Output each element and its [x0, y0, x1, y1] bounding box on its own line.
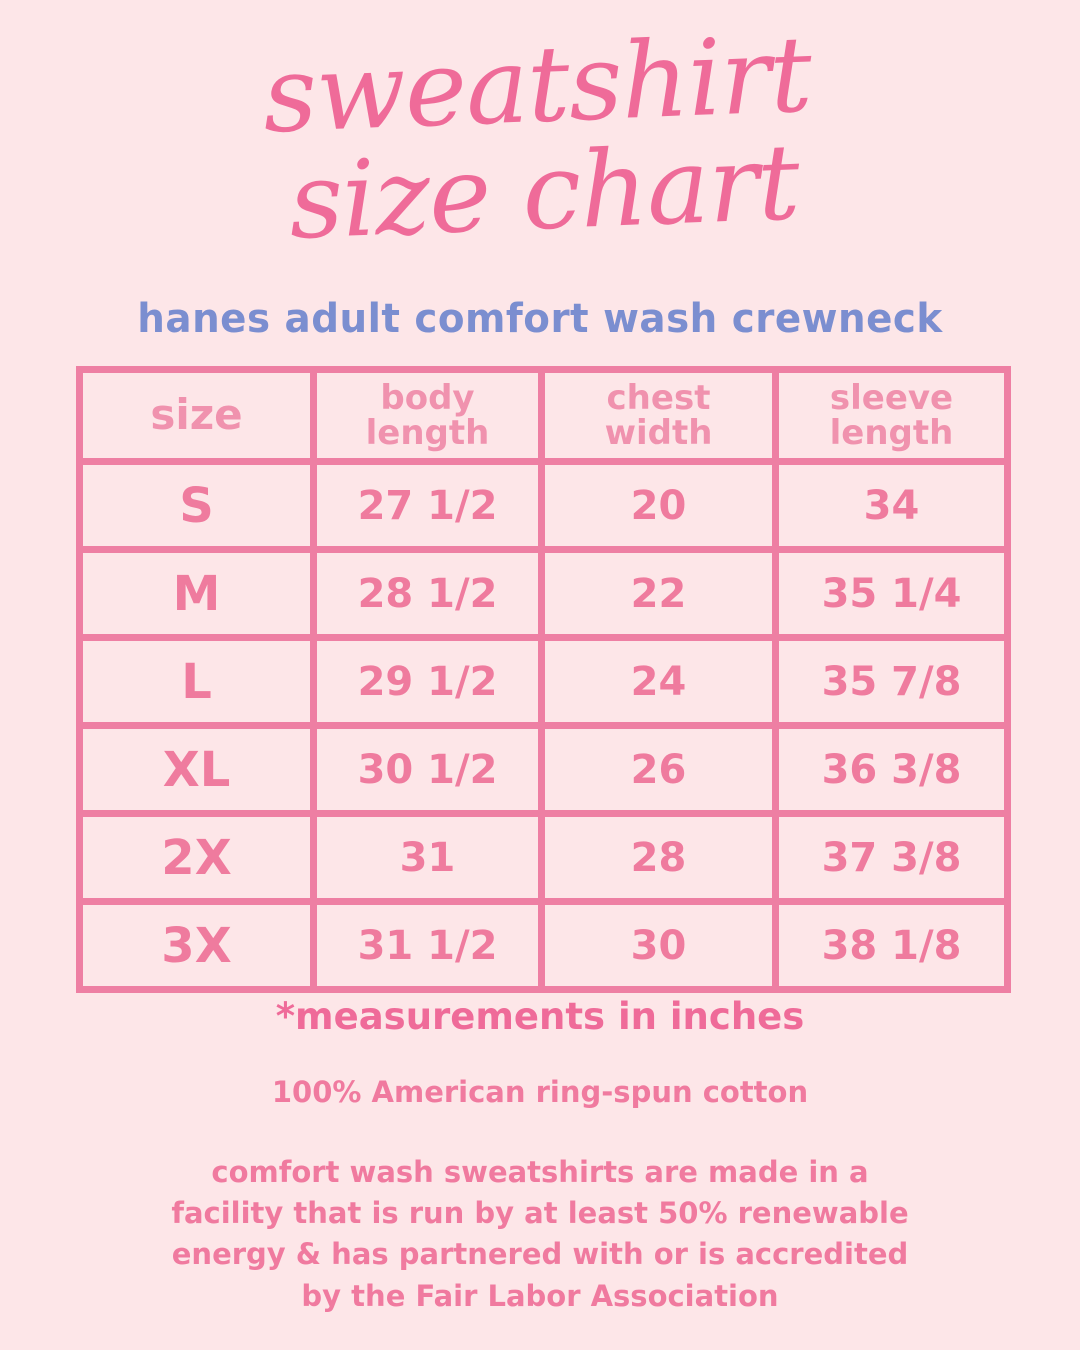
cell-chest-width: 26: [542, 726, 776, 814]
size-chart-table: size body length chest width sleeve leng…: [76, 366, 1011, 993]
cell-body-length: 29 1/2: [314, 638, 542, 726]
ethics-note: comfort wash sweatshirts are made in a f…: [0, 1152, 1080, 1317]
column-header-sleeve-length-line1: sleeve: [779, 381, 1004, 416]
column-header-sleeve-length-line2: length: [779, 416, 1004, 451]
page-title: sweatshirt size chart: [0, 34, 1080, 244]
cell-sleeve-length: 34: [776, 462, 1008, 550]
cell-body-length: 30 1/2: [314, 726, 542, 814]
column-header-body-length-line1: body: [317, 381, 538, 416]
ethics-note-line-2: facility that is run by at least 50% ren…: [0, 1193, 1080, 1234]
cell-chest-width: 24: [542, 638, 776, 726]
cell-sleeve-length: 38 1/8: [776, 902, 1008, 990]
table-row: 3X 31 1/2 30 38 1/8: [80, 902, 1008, 990]
column-header-chest-width: chest width: [542, 370, 776, 462]
cell-chest-width: 28: [542, 814, 776, 902]
column-header-body-length-line2: length: [317, 416, 538, 451]
measurement-unit-note: *measurements in inches: [0, 995, 1080, 1038]
product-subtitle: hanes adult comfort wash crewneck: [16, 296, 1064, 342]
ethics-note-line-1: comfort wash sweatshirts are made in a: [0, 1152, 1080, 1193]
cell-body-length: 27 1/2: [314, 462, 542, 550]
column-header-sleeve-length: sleeve length: [776, 370, 1008, 462]
cell-sleeve-length: 37 3/8: [776, 814, 1008, 902]
cell-size: M: [80, 550, 314, 638]
cell-body-length: 31 1/2: [314, 902, 542, 990]
ethics-note-line-4: by the Fair Labor Association: [0, 1276, 1080, 1317]
cell-body-length: 31: [314, 814, 542, 902]
cell-size: S: [80, 462, 314, 550]
table-row: M 28 1/2 22 35 1/4: [80, 550, 1008, 638]
cell-chest-width: 30: [542, 902, 776, 990]
cell-size: XL: [80, 726, 314, 814]
cell-size: L: [80, 638, 314, 726]
column-header-chest-width-line1: chest: [545, 381, 772, 416]
column-header-body-length: body length: [314, 370, 542, 462]
column-header-size: size: [80, 370, 314, 462]
table-body: S 27 1/2 20 34 M 28 1/2 22 35 1/4 L 29 1…: [80, 462, 1008, 990]
cell-sleeve-length: 35 1/4: [776, 550, 1008, 638]
cell-chest-width: 20: [542, 462, 776, 550]
table-row: S 27 1/2 20 34: [80, 462, 1008, 550]
column-header-chest-width-line2: width: [545, 416, 772, 451]
ethics-note-line-3: energy & has partnered with or is accred…: [0, 1234, 1080, 1275]
cell-chest-width: 22: [542, 550, 776, 638]
cell-sleeve-length: 35 7/8: [776, 638, 1008, 726]
table-row: XL 30 1/2 26 36 3/8: [80, 726, 1008, 814]
table-row: L 29 1/2 24 35 7/8: [80, 638, 1008, 726]
material-note: 100% American ring-spun cotton: [0, 1075, 1080, 1109]
cell-size: 3X: [80, 902, 314, 990]
table-row: 2X 31 28 37 3/8: [80, 814, 1008, 902]
cell-body-length: 28 1/2: [314, 550, 542, 638]
header-row: size body length chest width sleeve leng…: [80, 370, 1008, 462]
cell-size: 2X: [80, 814, 314, 902]
cell-sleeve-length: 36 3/8: [776, 726, 1008, 814]
table-header: size body length chest width sleeve leng…: [80, 370, 1008, 462]
